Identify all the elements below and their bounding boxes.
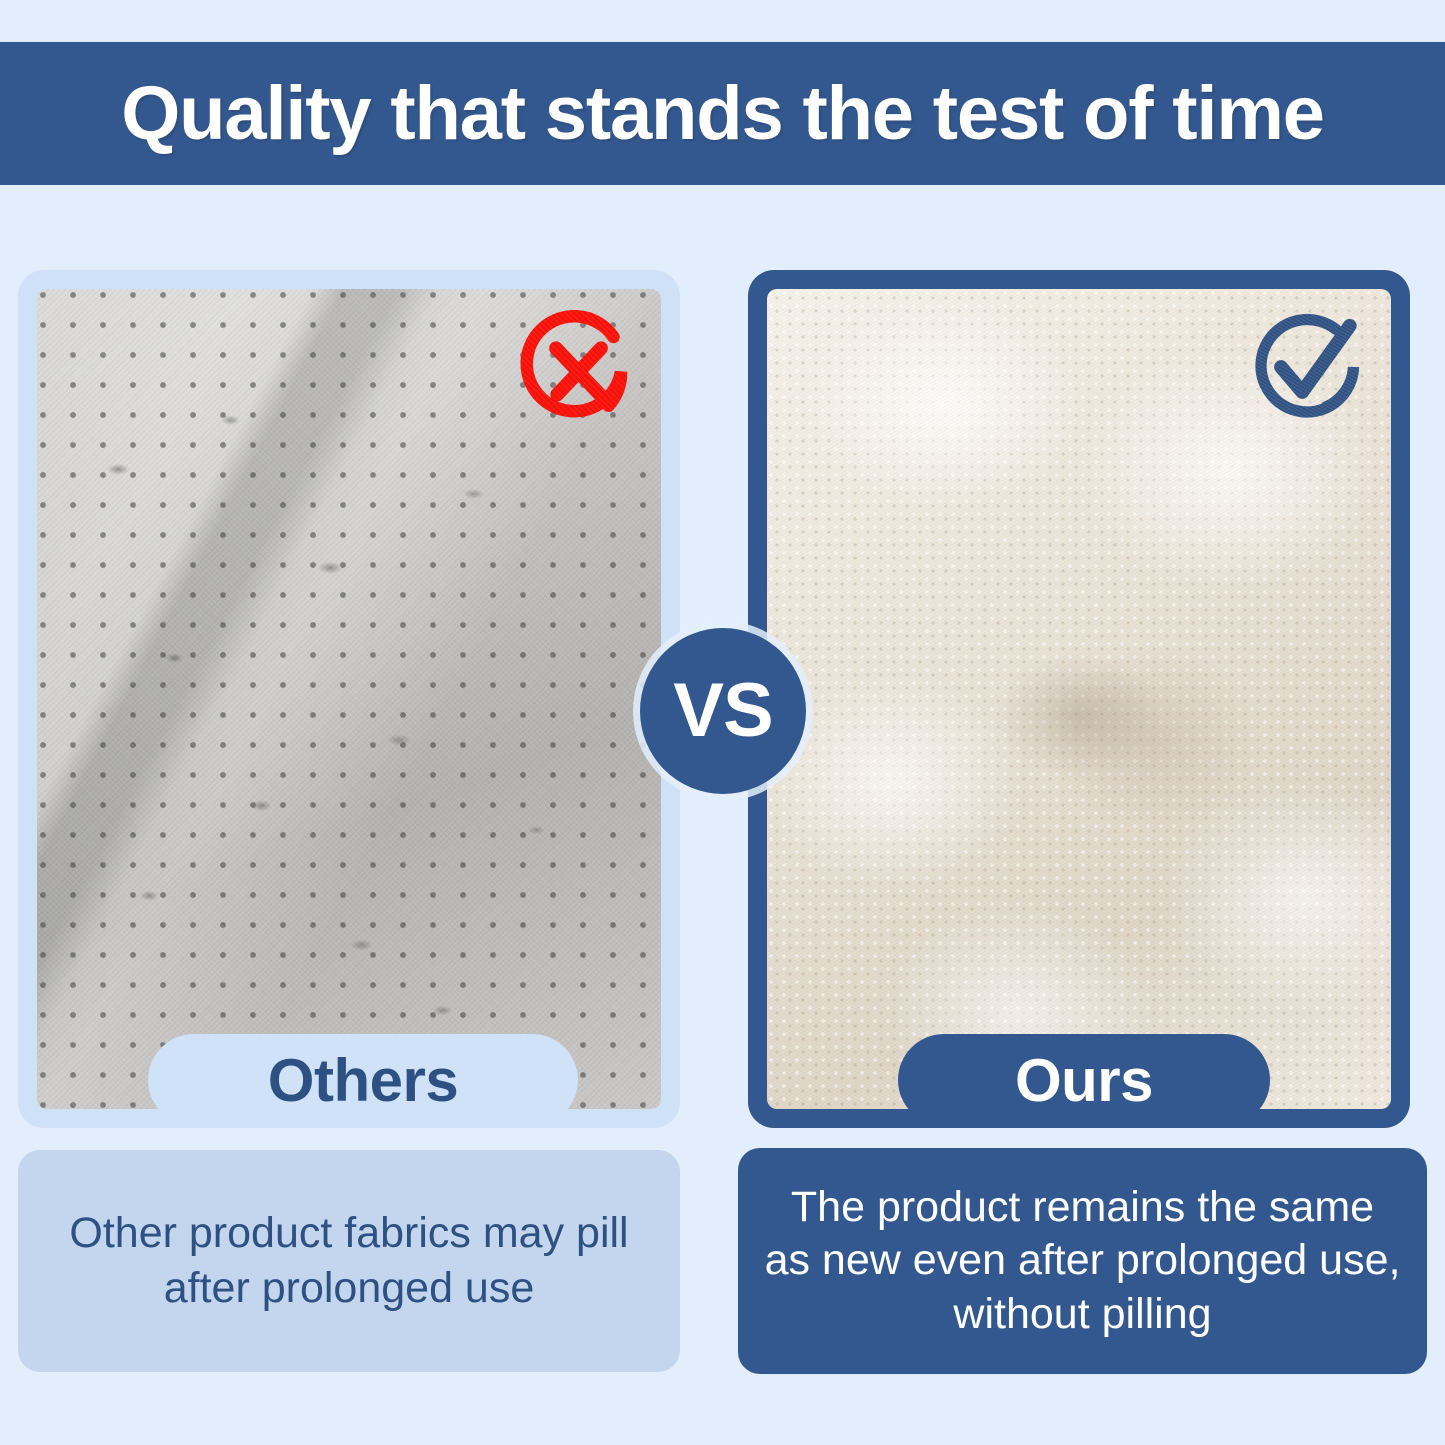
red-x-circle-icon (516, 307, 641, 432)
others-caption-box: Other product fabrics may pill after pro… (18, 1150, 680, 1372)
ours-fabric-photo (767, 289, 1391, 1109)
ours-caption-box: The product remains the same as new even… (738, 1148, 1427, 1374)
comparison-area: VS Others Ours Other product fabrics may… (0, 185, 1445, 1445)
others-label-text: Others (268, 1046, 458, 1115)
vs-badge: VS (640, 628, 806, 794)
ours-label-text: Ours (1015, 1046, 1153, 1115)
blue-check-circle-icon (1246, 307, 1371, 432)
header-banner: Quality that stands the test of time (0, 42, 1445, 185)
others-fabric-photo (37, 289, 661, 1109)
others-label-pill: Others (148, 1034, 578, 1126)
ours-caption-text: The product remains the same as new even… (764, 1181, 1401, 1341)
ours-label-pill: Ours (898, 1034, 1270, 1126)
others-panel (18, 270, 680, 1128)
page-title: Quality that stands the test of time (121, 76, 1324, 152)
vs-label: VS (673, 673, 772, 749)
others-caption-text: Other product fabrics may pill after pro… (44, 1206, 654, 1316)
ours-panel (748, 270, 1410, 1128)
